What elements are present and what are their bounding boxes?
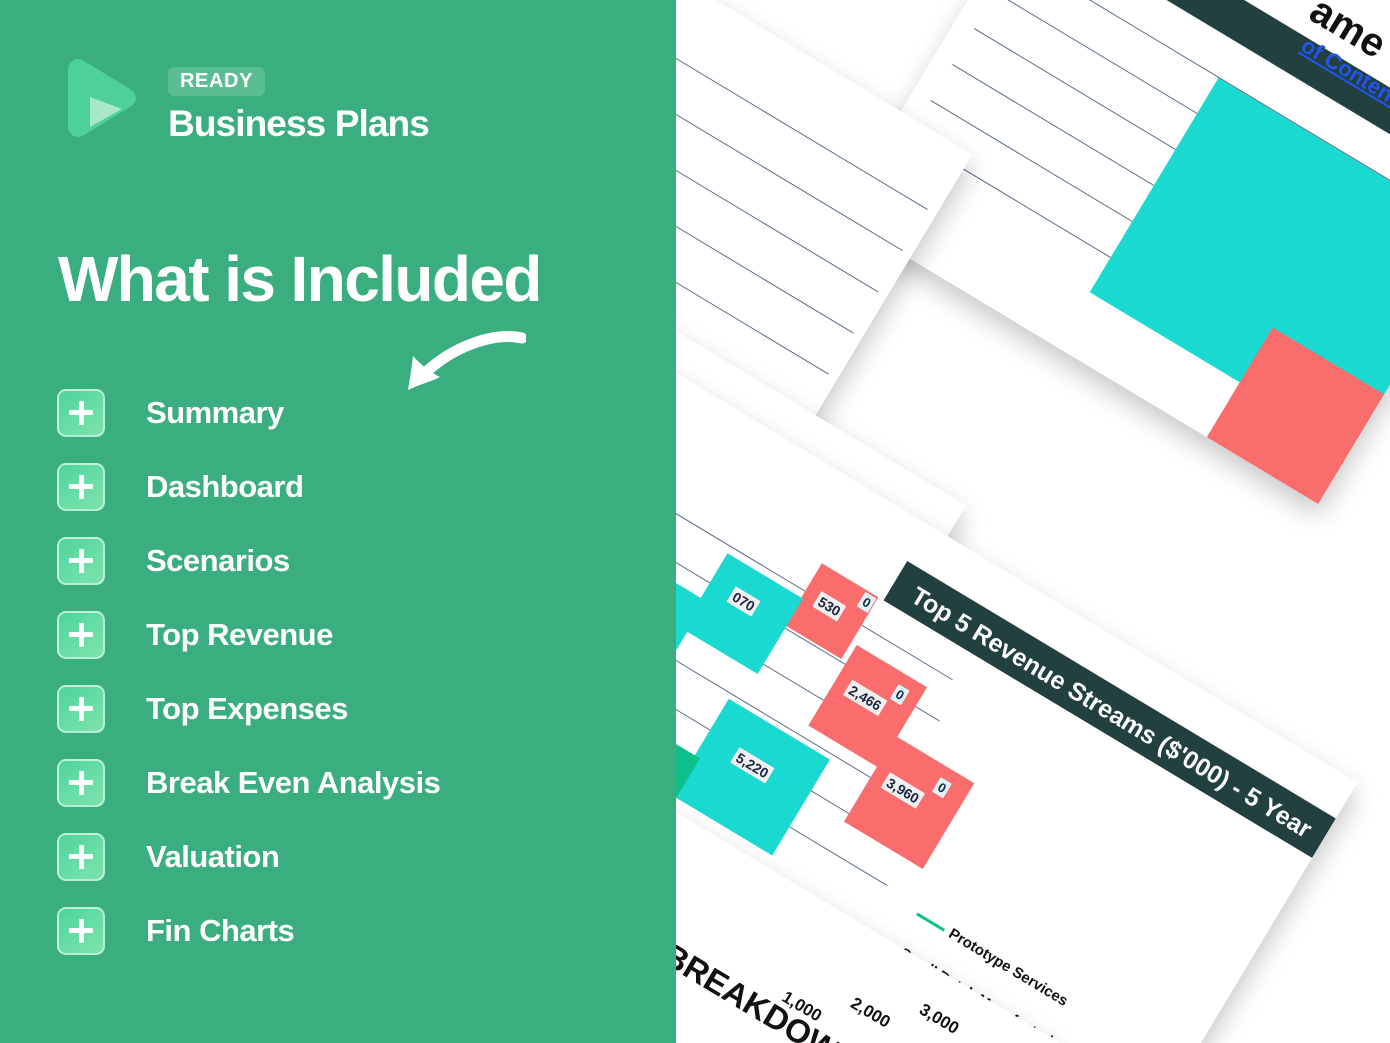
feature-item-summary[interactable]: Summary [57,388,657,437]
spreadsheet-mockup-collage: ame of Contents 128 [676,0,1390,1043]
feature-label: Dashboard [146,469,303,505]
plus-icon [57,685,105,733]
feature-label: Fin Charts [146,913,294,949]
feature-item-dashboard[interactable]: Dashboard [57,462,657,511]
plus-icon [57,537,105,585]
feature-label: Top Revenue [146,617,333,653]
axis-tick: 2,000 [847,993,894,1032]
feature-item-break-even-analysis[interactable]: Break Even Analysis [57,758,657,807]
legend-marker [916,913,945,932]
feature-label: Scenarios [146,543,290,579]
plus-icon [57,833,105,881]
play-triangle-icon [60,57,140,139]
plus-icon [57,389,105,437]
brand-text: READY Business Plans [168,57,429,142]
plus-icon [57,611,105,659]
feature-item-scenarios[interactable]: Scenarios [57,536,657,585]
feature-label: Top Expenses [146,691,348,727]
feature-label: Break Even Analysis [146,765,440,801]
revenue-streams-title: Top 5 Revenue Streams ($'000) - 5 Year [905,582,1316,845]
feature-label: Valuation [146,839,279,875]
plus-icon [57,759,105,807]
feature-item-fin-charts[interactable]: Fin Charts [57,906,657,955]
ready-badge: READY [168,67,265,96]
page-title: What is Included [58,246,541,313]
feature-item-top-expenses[interactable]: Top Expenses [57,684,657,733]
included-features-list: Summary Dashboard Scenarios Top Revenue … [57,388,657,980]
brand-name: Business Plans [168,105,429,142]
table-of-contents-sheet: ame of Contents [838,0,1390,504]
plus-icon [57,907,105,955]
axis-tick: 3,000 [916,1000,963,1039]
feature-label: Summary [146,395,284,431]
feature-item-top-revenue[interactable]: Top Revenue [57,610,657,659]
feature-item-valuation[interactable]: Valuation [57,832,657,881]
plus-icon [57,463,105,511]
left-content-panel: READY Business Plans What is Included Su… [0,0,676,1043]
brand-logo[interactable]: READY Business Plans [60,57,429,142]
promo-graphic: ame of Contents 128 [0,0,1390,1043]
